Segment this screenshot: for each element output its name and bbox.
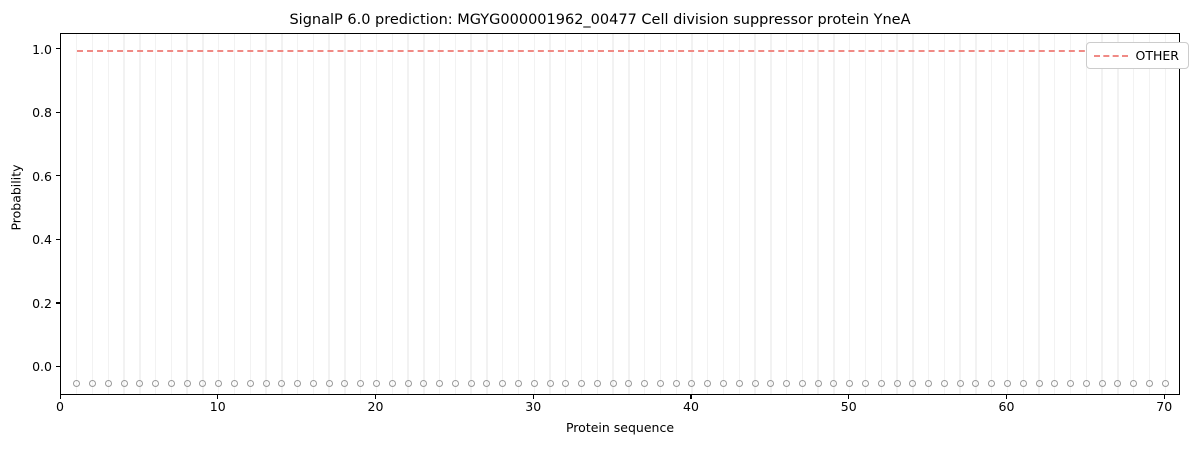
residue-letter: H xyxy=(293,391,302,395)
residue-marker xyxy=(878,380,885,387)
y-axis-tick-label: 1.0 xyxy=(0,42,60,56)
y-axis-tick-mark xyxy=(56,239,60,240)
gridline xyxy=(896,34,897,394)
x-axis-tick-label: 10 xyxy=(198,399,238,414)
residue-marker xyxy=(515,380,522,387)
x-axis-tick-label: 50 xyxy=(829,399,869,414)
residue-letter: T xyxy=(578,391,585,395)
gridline xyxy=(849,34,850,394)
residue-letter: V xyxy=(199,391,207,395)
residue-marker xyxy=(625,380,632,387)
gridline xyxy=(660,34,661,394)
gridline xyxy=(234,34,235,394)
gridline xyxy=(1007,34,1008,394)
gridline xyxy=(1054,34,1055,394)
residue-marker xyxy=(168,380,175,387)
residue-marker xyxy=(925,380,932,387)
residue-marker xyxy=(720,380,727,387)
residue-marker xyxy=(531,380,538,387)
gridline xyxy=(392,34,393,394)
residue-marker xyxy=(294,380,301,387)
gridline xyxy=(1149,34,1150,394)
residue-letter: S xyxy=(467,391,474,395)
gridline xyxy=(1133,34,1134,394)
residue-letter: L xyxy=(752,391,758,395)
gridline xyxy=(502,34,503,394)
signalp-prediction-figure: SignalP 6.0 prediction: MGYG000001962_00… xyxy=(0,0,1200,450)
residue-letter: R xyxy=(1051,391,1059,395)
gridline xyxy=(581,34,582,394)
residue-letter: A xyxy=(1161,391,1169,395)
residue-marker xyxy=(1036,380,1043,387)
residue-letter: I xyxy=(1022,391,1025,395)
gridline xyxy=(423,34,424,394)
gridline xyxy=(928,34,929,394)
residue-letter: I xyxy=(911,391,914,395)
residue-letter: R xyxy=(1098,391,1106,395)
residue-letter: L xyxy=(594,391,600,395)
residue-letter: K xyxy=(499,391,507,395)
residue-marker xyxy=(688,380,695,387)
gridline xyxy=(297,34,298,394)
gridline xyxy=(565,34,566,394)
gridline xyxy=(944,34,945,394)
residue-letter: S xyxy=(1035,391,1042,395)
residue-letter: D xyxy=(246,391,255,395)
residue-marker xyxy=(420,380,427,387)
gridline xyxy=(171,34,172,394)
residue-letter: T xyxy=(941,391,948,395)
residue-marker xyxy=(594,380,601,387)
residue-letter: V xyxy=(877,391,885,395)
residue-letter: S xyxy=(436,391,443,395)
residue-letters: MNERKITGVVVDSGHGGSDPGAISGSLKEKDLTLKAANYM… xyxy=(61,391,1179,395)
residue-marker xyxy=(1162,380,1169,387)
residue-letter: R xyxy=(735,391,743,395)
x-axis-tick-label: 40 xyxy=(671,399,711,414)
residue-marker xyxy=(1114,380,1121,387)
gridline xyxy=(92,34,93,394)
residue-marker xyxy=(468,380,475,387)
gridline xyxy=(612,34,613,394)
residue-marker xyxy=(1083,380,1090,387)
gridline xyxy=(549,34,550,394)
gridline xyxy=(691,34,692,394)
residue-marker xyxy=(121,380,128,387)
gridline xyxy=(1023,34,1024,394)
legend-label-other: OTHER xyxy=(1136,48,1179,63)
x-axis-tick-mark xyxy=(848,395,849,399)
residue-marker xyxy=(105,380,112,387)
gridline xyxy=(108,34,109,394)
residue-letter: G xyxy=(814,391,823,395)
residue-marker xyxy=(231,380,238,387)
gridline xyxy=(707,34,708,394)
residue-letter: E xyxy=(783,391,790,395)
residue-marker xyxy=(326,380,333,387)
gridline xyxy=(344,34,345,394)
gridline xyxy=(250,34,251,394)
residue-letter: S xyxy=(341,391,348,395)
residue-marker xyxy=(341,380,348,387)
x-axis-tick-mark xyxy=(217,395,218,399)
residue-letter: V xyxy=(231,391,239,395)
residue-marker xyxy=(988,380,995,387)
gridline xyxy=(817,34,818,394)
residue-letter: G xyxy=(183,391,192,395)
residue-marker xyxy=(499,380,506,387)
residue-marker xyxy=(783,380,790,387)
residue-letter: T xyxy=(957,391,964,395)
residue-letter: T xyxy=(1067,391,1074,395)
gridline xyxy=(534,34,535,394)
x-axis-tick-mark xyxy=(533,395,534,399)
residue-letter: A xyxy=(404,391,412,395)
x-axis-tick-label: 60 xyxy=(986,399,1026,414)
residue-letter: E xyxy=(515,391,522,395)
x-axis-tick-mark xyxy=(1164,395,1165,399)
residue-marker xyxy=(547,380,554,387)
residue-marker xyxy=(641,380,648,387)
plot-area: MNERKITGVVVDSGHGGSDPGAISGSLKEKDLTLKAANYM… xyxy=(60,33,1180,395)
residue-marker xyxy=(215,380,222,387)
residue-marker xyxy=(830,380,837,387)
gridline xyxy=(1165,34,1166,394)
residue-letter: I xyxy=(154,391,157,395)
residue-letter: D xyxy=(971,391,980,395)
residue-marker xyxy=(957,380,964,387)
y-axis-tick-label: 0.2 xyxy=(0,296,60,310)
y-axis-tick-mark xyxy=(56,112,60,113)
residue-letter: D xyxy=(356,391,365,395)
residue-letter: I xyxy=(422,391,425,395)
residue-letter: M xyxy=(687,391,697,395)
gridline xyxy=(676,34,677,394)
page-title: SignalP 6.0 prediction: MGYG000001962_00… xyxy=(0,12,1200,28)
residue-letter: G xyxy=(325,391,334,395)
residue-marker xyxy=(1146,380,1153,387)
residue-marker xyxy=(657,380,664,387)
gridline xyxy=(455,34,456,394)
residue-letter: V xyxy=(862,391,870,395)
x-axis-tick-mark xyxy=(690,395,691,399)
gridline xyxy=(881,34,882,394)
gridline xyxy=(754,34,755,394)
x-axis-tick-label: 0 xyxy=(40,399,80,414)
residue-letter: Y xyxy=(673,391,680,395)
gridline xyxy=(802,34,803,394)
gridline xyxy=(281,34,282,394)
gridline xyxy=(644,34,645,394)
residue-letter: I xyxy=(832,391,835,395)
residue-letter: G xyxy=(277,391,286,395)
residue-marker xyxy=(263,380,270,387)
gridline xyxy=(991,34,992,394)
gridline xyxy=(786,34,787,394)
residue-marker xyxy=(405,380,412,387)
gridline xyxy=(328,34,329,394)
residue-letter: N xyxy=(88,391,97,395)
residue-marker xyxy=(199,380,206,387)
residue-marker xyxy=(1130,380,1137,387)
gridline xyxy=(959,34,960,394)
residue-marker xyxy=(452,380,459,387)
gridline xyxy=(739,34,740,394)
gridline xyxy=(360,34,361,394)
y-axis-label: Probability xyxy=(9,98,24,298)
residue-marker xyxy=(941,380,948,387)
gridline xyxy=(486,34,487,394)
residue-marker xyxy=(562,380,569,387)
x-axis-tick-label: 70 xyxy=(1144,399,1184,414)
x-axis-tick-label: 20 xyxy=(355,399,395,414)
residue-letter: L xyxy=(799,391,805,395)
gridline xyxy=(597,34,598,394)
residue-marker xyxy=(610,380,617,387)
residue-letter: K xyxy=(925,391,933,395)
gridline xyxy=(470,34,471,394)
gridline xyxy=(218,34,219,394)
gridline xyxy=(833,34,834,394)
residue-letter: Q xyxy=(766,391,775,395)
residue-marker xyxy=(1099,380,1106,387)
residue-letter: K xyxy=(136,391,144,395)
residue-marker xyxy=(483,380,490,387)
residue-marker xyxy=(894,380,901,387)
residue-marker xyxy=(752,380,759,387)
gridline xyxy=(155,34,156,394)
gridline xyxy=(265,34,266,394)
residue-marker xyxy=(1067,380,1074,387)
residue-letter: A xyxy=(625,391,633,395)
gridline xyxy=(865,34,866,394)
residue-letter: L xyxy=(563,391,569,395)
legend: OTHER xyxy=(1086,42,1189,69)
residue-letter: L xyxy=(484,391,490,395)
residue-marker xyxy=(799,380,806,387)
residue-marker xyxy=(136,380,143,387)
residue-letter: R xyxy=(720,391,728,395)
residue-marker xyxy=(846,380,853,387)
residue-marker xyxy=(767,380,774,387)
residue-marker xyxy=(73,380,80,387)
gridline xyxy=(1038,34,1039,394)
residue-marker xyxy=(89,380,96,387)
y-axis-tick-mark xyxy=(56,302,60,303)
residue-letter: R xyxy=(1145,391,1153,395)
residue-marker xyxy=(152,380,159,387)
gridline xyxy=(407,34,408,394)
residue-marker xyxy=(310,380,317,387)
gridline xyxy=(202,34,203,394)
x-axis-tick-mark xyxy=(375,395,376,399)
residue-letter: D xyxy=(546,391,555,395)
series-line-other xyxy=(77,50,1165,52)
y-axis-tick-label: 0.0 xyxy=(0,359,60,373)
residue-letter: S xyxy=(262,391,269,395)
residue-marker xyxy=(1051,380,1058,387)
residue-letter: S xyxy=(893,391,900,395)
gridline xyxy=(723,34,724,394)
residue-marker xyxy=(578,380,585,387)
residue-letter: N xyxy=(656,391,665,395)
gridline xyxy=(770,34,771,394)
gridline xyxy=(439,34,440,394)
residue-marker xyxy=(673,380,680,387)
residue-marker xyxy=(357,380,364,387)
x-axis-tick-mark xyxy=(1006,395,1007,399)
y-axis-tick-mark xyxy=(56,175,60,176)
gridline xyxy=(518,34,519,394)
y-axis-tick-mark xyxy=(56,366,60,367)
gridline xyxy=(975,34,976,394)
gridlines xyxy=(61,34,1179,394)
gridline xyxy=(76,34,77,394)
residue-letter: E xyxy=(988,391,995,395)
residue-letter: K xyxy=(530,391,538,395)
residue-letter: K xyxy=(609,391,617,395)
gridline xyxy=(1117,34,1118,394)
residue-marker xyxy=(1020,380,1027,387)
residue-marker xyxy=(436,380,443,387)
residue-letter: V xyxy=(215,391,223,395)
residue-letter: A xyxy=(641,391,649,395)
residue-marker xyxy=(862,380,869,387)
residue-letter: D xyxy=(1003,391,1012,395)
residue-letter: G xyxy=(451,391,460,395)
gridline xyxy=(912,34,913,394)
residue-letter: E xyxy=(105,391,112,395)
residue-letter: R xyxy=(1130,391,1138,395)
x-axis-label: Protein sequence xyxy=(60,420,1180,435)
gridline xyxy=(313,34,314,394)
residue-letter: M xyxy=(72,391,82,395)
residue-letter: L xyxy=(1115,391,1121,395)
residue-letter: G xyxy=(388,391,397,395)
residue-marker xyxy=(373,380,380,387)
gridline xyxy=(1086,34,1087,394)
residue-marker xyxy=(247,380,254,387)
gridline xyxy=(376,34,377,394)
gridline xyxy=(186,34,187,394)
residue-letter: T xyxy=(168,391,175,395)
legend-swatch-other xyxy=(1094,55,1128,57)
residue-letter: T xyxy=(704,391,711,395)
residue-marker xyxy=(1004,380,1011,387)
residue-marker xyxy=(736,380,743,387)
x-axis-tick-label: 30 xyxy=(513,399,553,414)
x-axis-tick-mark xyxy=(60,395,61,399)
y-axis-tick-mark xyxy=(56,48,60,49)
residue-marker xyxy=(815,380,822,387)
gridline xyxy=(1070,34,1071,394)
residue-marker xyxy=(972,380,979,387)
residue-marker xyxy=(389,380,396,387)
gridline xyxy=(123,34,124,394)
gridline xyxy=(1101,34,1102,394)
gridline xyxy=(628,34,629,394)
residue-marker xyxy=(704,380,711,387)
residue-marker xyxy=(278,380,285,387)
residue-marker xyxy=(184,380,191,387)
residue-letter: E xyxy=(1083,391,1090,395)
residue-letter: G xyxy=(309,391,318,395)
gridline xyxy=(139,34,140,394)
residue-marker xyxy=(909,380,916,387)
residue-letter: R xyxy=(120,391,128,395)
